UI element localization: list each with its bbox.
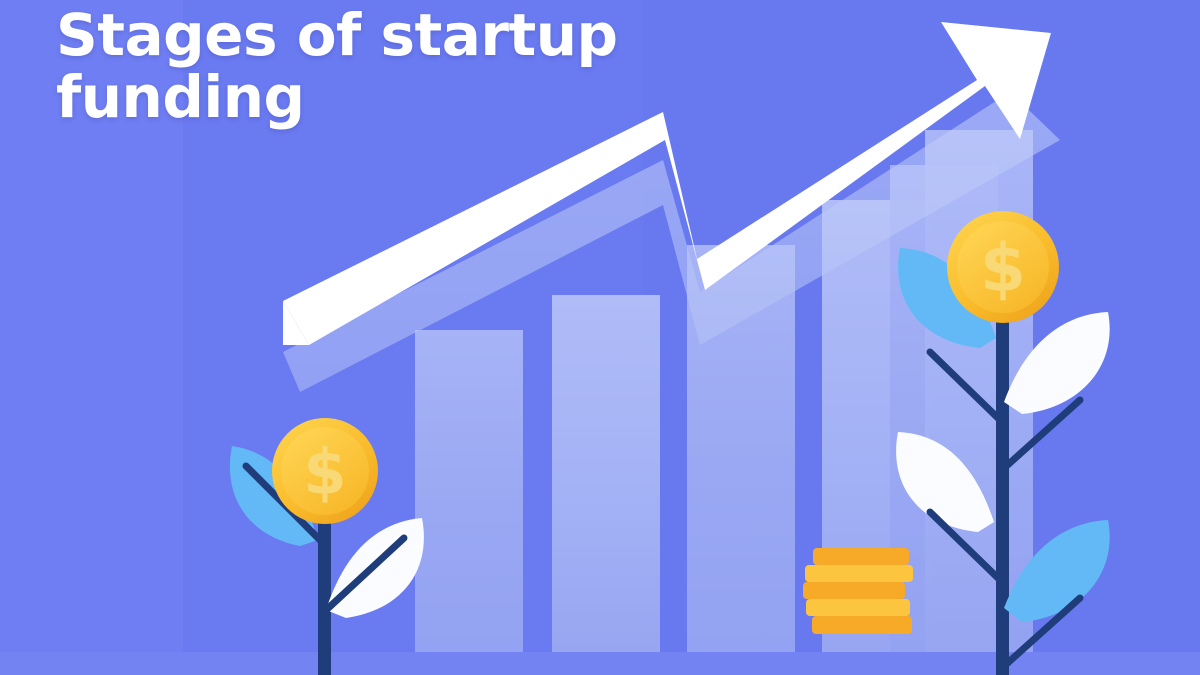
svg-text:$: $	[303, 436, 346, 509]
bar-1	[415, 330, 523, 652]
coin-right: $	[947, 211, 1059, 323]
coin-stack-layer-3	[803, 582, 905, 599]
coin-stack	[803, 548, 913, 634]
svg-text:$: $	[980, 230, 1026, 307]
coin-left: $	[272, 418, 378, 524]
plant-stem-right	[996, 290, 1009, 675]
coin-stack-layer-4	[806, 599, 910, 616]
coin-stack-layer-5	[812, 616, 912, 634]
coin-stack-layer-2	[805, 565, 913, 582]
artboard: $	[0, 0, 1200, 675]
illustration-canvas: $	[0, 0, 1200, 675]
bar-2	[552, 295, 660, 652]
coin-stack-layer-1	[813, 548, 909, 565]
